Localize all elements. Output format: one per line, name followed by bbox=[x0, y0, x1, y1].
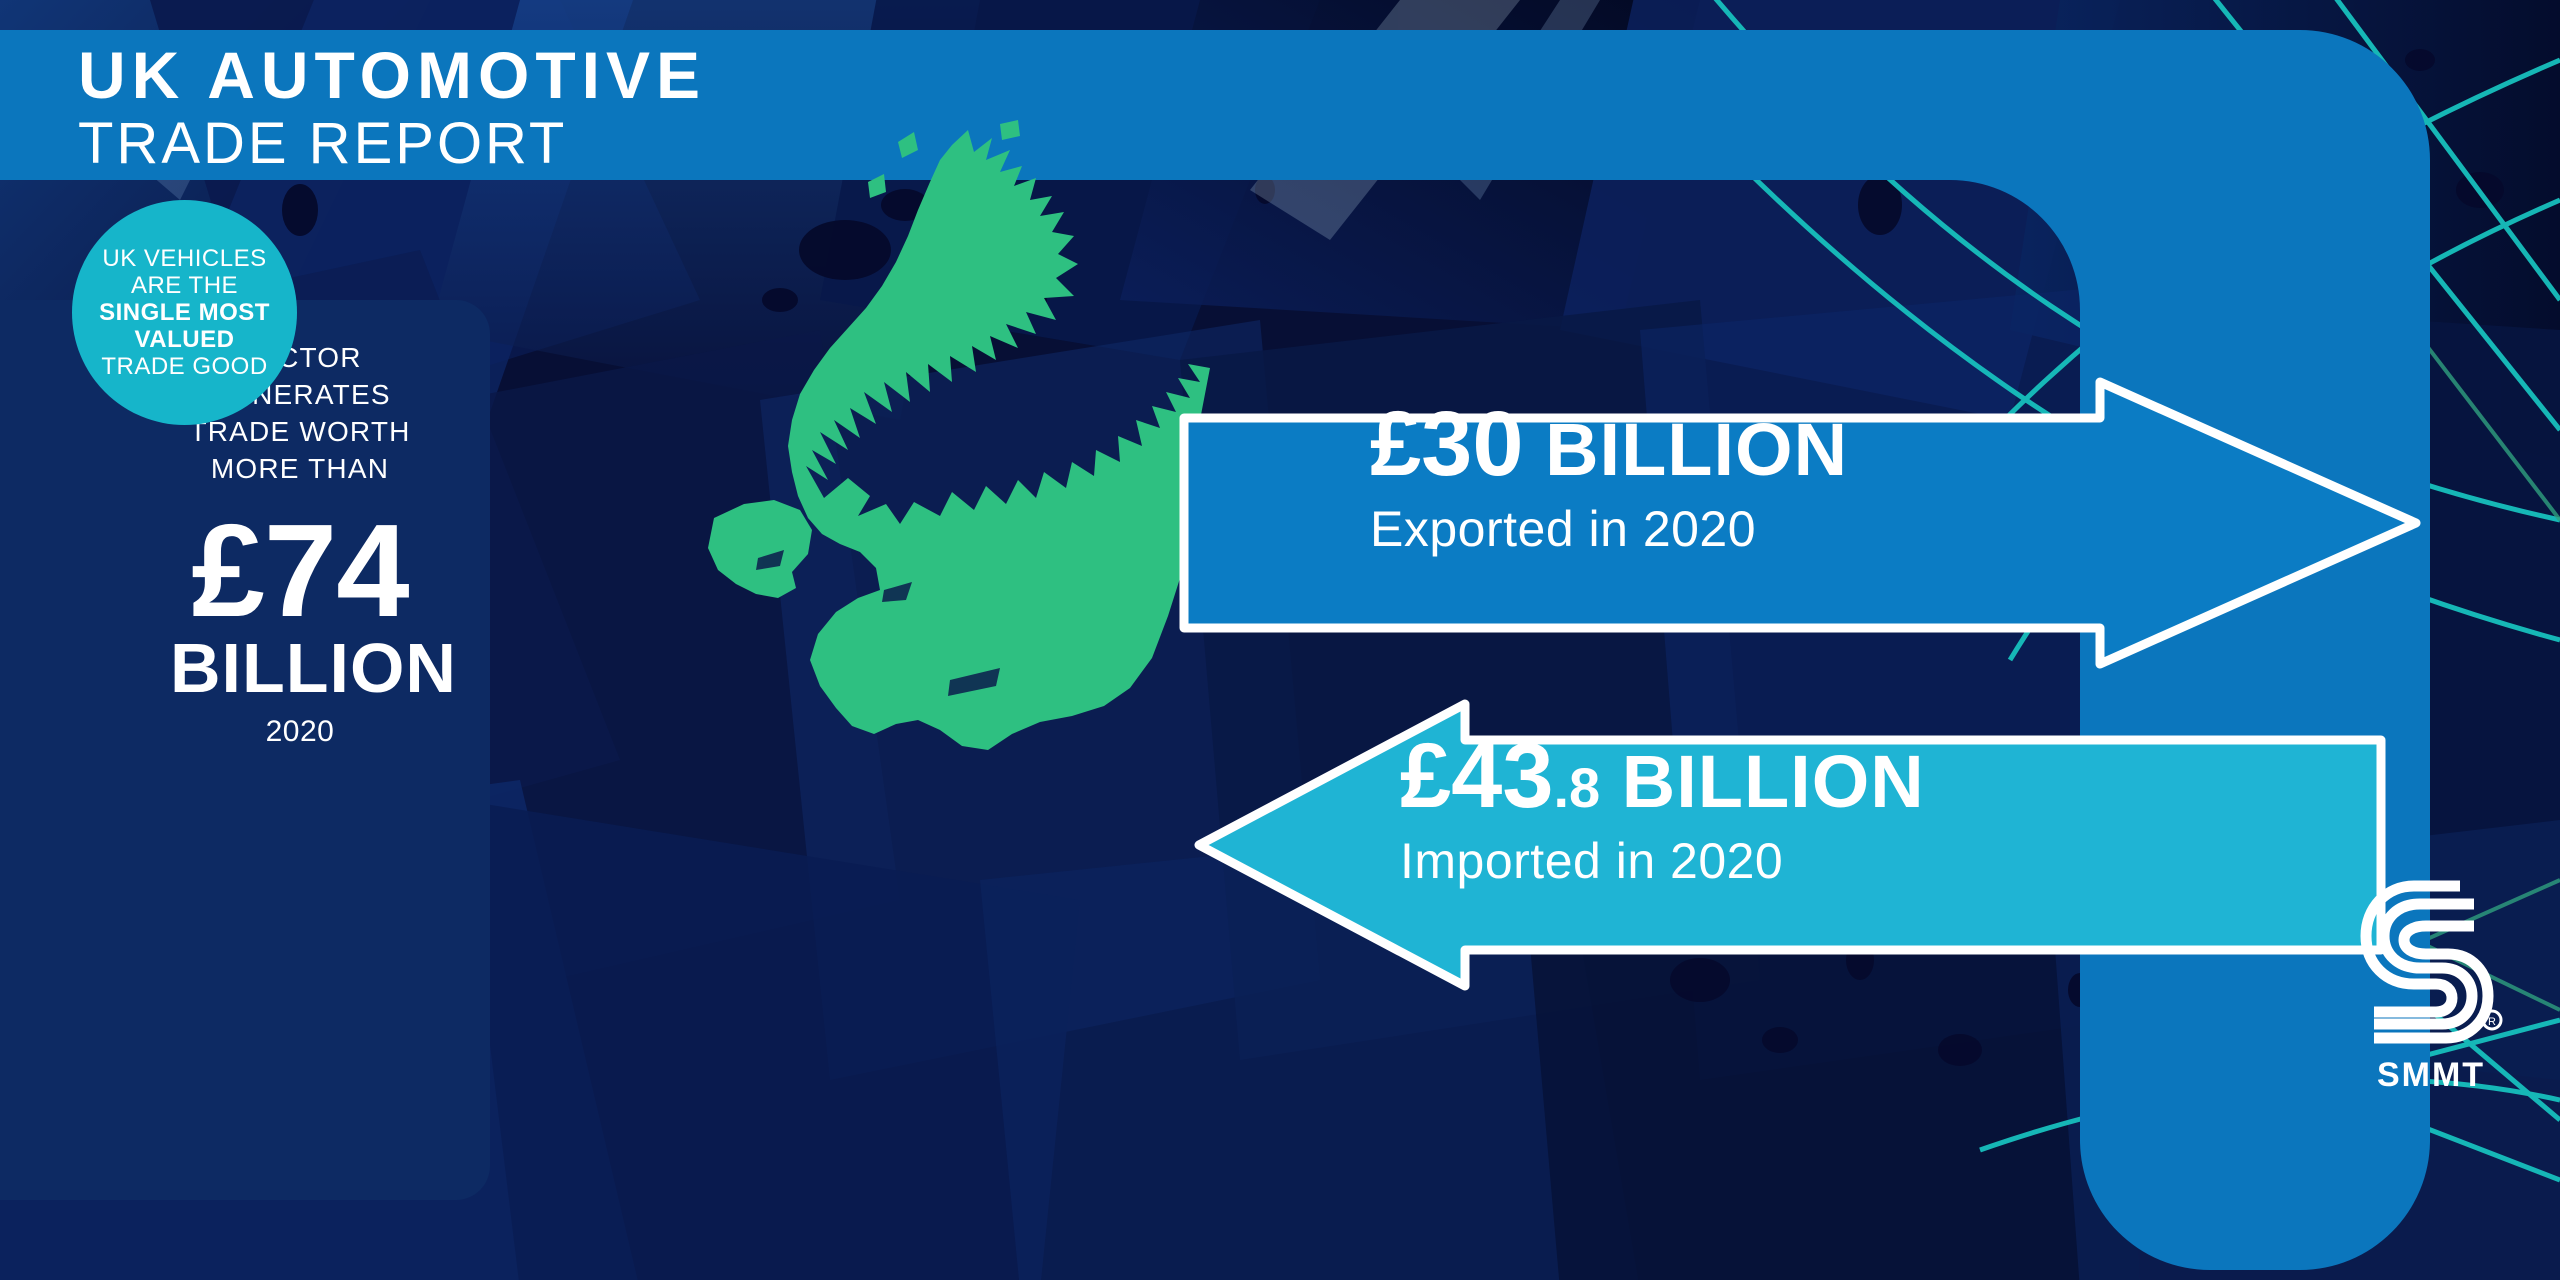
import-unit: BILLION bbox=[1622, 740, 1925, 823]
badge-line-1: UK VEHICLES bbox=[102, 245, 266, 272]
smmt-wordmark: SMMT bbox=[2356, 1056, 2506, 1095]
import-amount: £43 bbox=[1400, 725, 1554, 827]
export-unit: BILLION bbox=[1545, 408, 1848, 491]
badge-line-5: TRADE GOOD bbox=[101, 353, 267, 380]
import-arrow-text: £43.8 BILLION Imported in 2020 bbox=[1400, 730, 2300, 886]
trade-value-year: 2020 bbox=[170, 717, 430, 747]
trade-value-unit: BILLION bbox=[170, 633, 430, 703]
import-caption: Imported in 2020 bbox=[1400, 836, 2300, 886]
trade-value-panel: SECTOR GENERATES TRADE WORTH MORE THAN £… bbox=[0, 300, 490, 1200]
badge-line-2: ARE THE bbox=[131, 272, 238, 299]
infographic-canvas: UK AUTOMOTIVE TRADE REPORT bbox=[0, 0, 2560, 1280]
badge-line-4: VALUED bbox=[135, 326, 235, 353]
import-decimal: .8 bbox=[1554, 756, 1601, 819]
smmt-logo: R SMMT bbox=[2356, 880, 2506, 1095]
smmt-s-mark: R bbox=[2356, 880, 2506, 1050]
single-most-valued-badge: UK VEHICLES ARE THE SINGLE MOST VALUED T… bbox=[72, 200, 297, 425]
export-amount: £30 bbox=[1370, 393, 1524, 495]
uk-map bbox=[700, 120, 1260, 760]
export-arrow-text: £30 BILLION Exported in 2020 bbox=[1370, 398, 2270, 554]
badge-line-3: SINGLE MOST bbox=[99, 299, 270, 326]
svg-text:R: R bbox=[2488, 1016, 2496, 1028]
export-caption: Exported in 2020 bbox=[1370, 504, 2270, 554]
trade-value-amount: £74 bbox=[170, 510, 430, 631]
page-title: UK AUTOMOTIVE bbox=[78, 42, 1278, 108]
panel-lead-line-4: MORE THAN bbox=[170, 451, 430, 488]
